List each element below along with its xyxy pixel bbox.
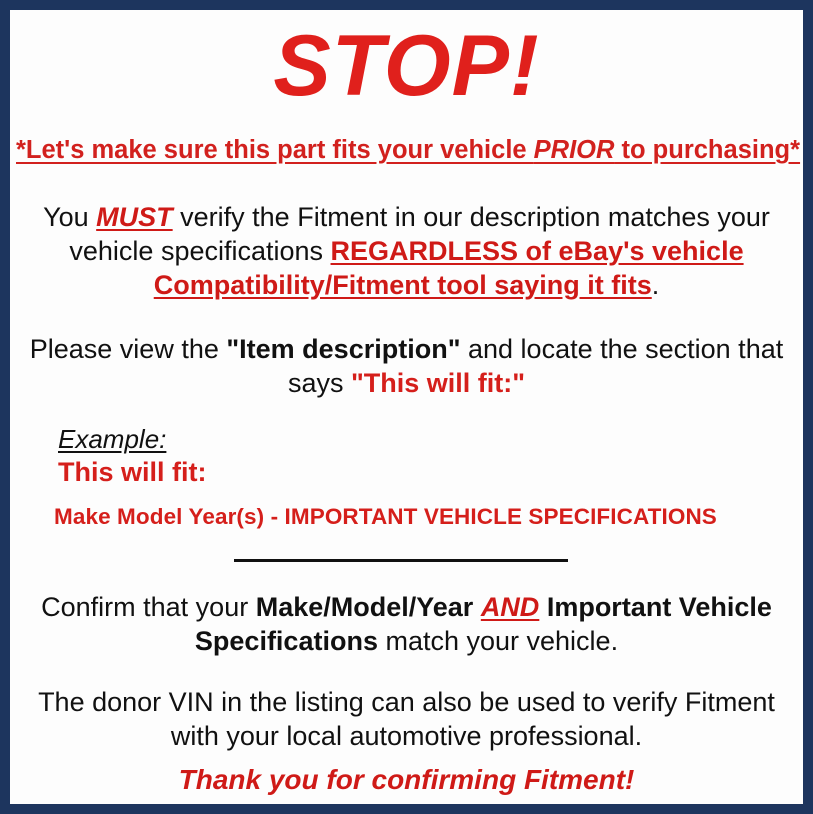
para2-segment-1: Please view the xyxy=(30,334,227,364)
example-fitment-line: Make Model Year(s) - IMPORTANT VEHICLE S… xyxy=(54,503,717,531)
notice-canvas: STOP! *Let's make sure this part fits yo… xyxy=(10,10,803,804)
subtitle-emphasis-prior: PRIOR xyxy=(534,136,615,164)
section-divider xyxy=(234,559,568,562)
para2-bold-item-description: "Item description" xyxy=(226,334,460,364)
para3-emphasis-and: AND xyxy=(481,592,540,622)
confirm-paragraph: Confirm that your Make/Model/Year AND Im… xyxy=(36,590,777,658)
verify-fitment-paragraph: You MUST verify the Fitment in our descr… xyxy=(32,200,781,302)
para3-bold-make-model-year: Make/Model/Year xyxy=(256,592,481,622)
para1-emphasis-must: MUST xyxy=(96,202,173,232)
example-will-fit-heading: This will fit: xyxy=(58,456,207,488)
example-label: Example: xyxy=(58,424,166,454)
subtitle-text-before: *Let's make sure this part fits your veh… xyxy=(16,136,534,164)
subtitle-text-after: to purchasing* xyxy=(614,136,800,164)
para2-red-this-will-fit: "This will fit:" xyxy=(351,368,525,398)
fitment-notice-image: STOP! *Let's make sure this part fits yo… xyxy=(0,0,813,814)
para3-segment-2: match your vehicle. xyxy=(378,626,618,656)
closing-thank-you: Thank you for confirming Fitment! xyxy=(10,763,803,797)
donor-vin-paragraph: The donor VIN in the listing can also be… xyxy=(34,685,779,753)
para1-segment-3: . xyxy=(652,270,660,300)
para1-segment-1: You xyxy=(43,202,96,232)
para3-segment-1: Confirm that your xyxy=(41,592,256,622)
subtitle-banner: *Let's make sure this part fits your veh… xyxy=(16,134,797,166)
item-description-paragraph: Please view the "Item description" and l… xyxy=(28,332,785,400)
page-title: STOP! xyxy=(10,18,803,114)
